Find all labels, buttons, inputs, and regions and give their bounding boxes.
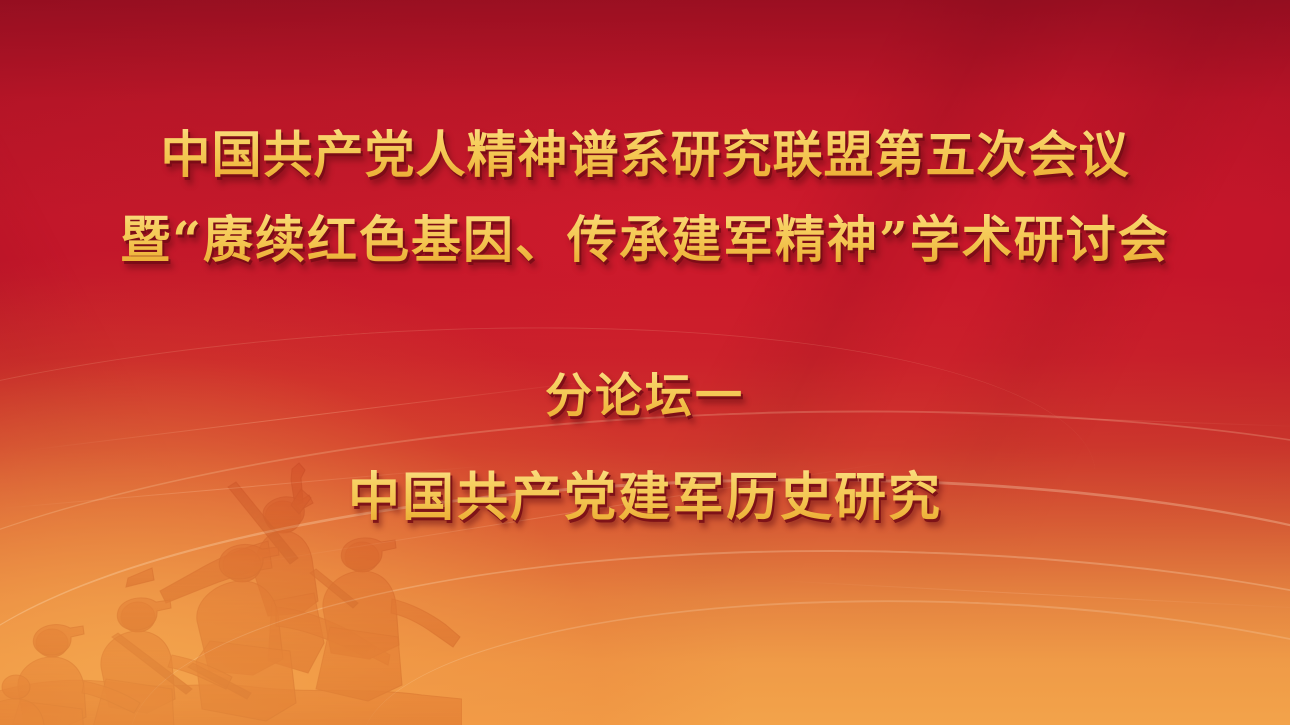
sub-forum-topic: 中国共产党建军历史研究 xyxy=(0,466,1290,530)
conference-title-line-2: 暨“赓续红色基因、传承建军精神”学术研讨会 xyxy=(0,209,1290,271)
conference-title-line-1: 中国共产党人精神谱系研究联盟第五次会议 xyxy=(0,124,1290,186)
sub-forum-label: 分论坛一 xyxy=(0,368,1290,426)
conference-slide: 中国共产党人精神谱系研究联盟第五次会议 暨“赓续红色基因、传承建军精神”学术研讨… xyxy=(0,0,1290,725)
background-warm-left-glow xyxy=(0,203,748,725)
